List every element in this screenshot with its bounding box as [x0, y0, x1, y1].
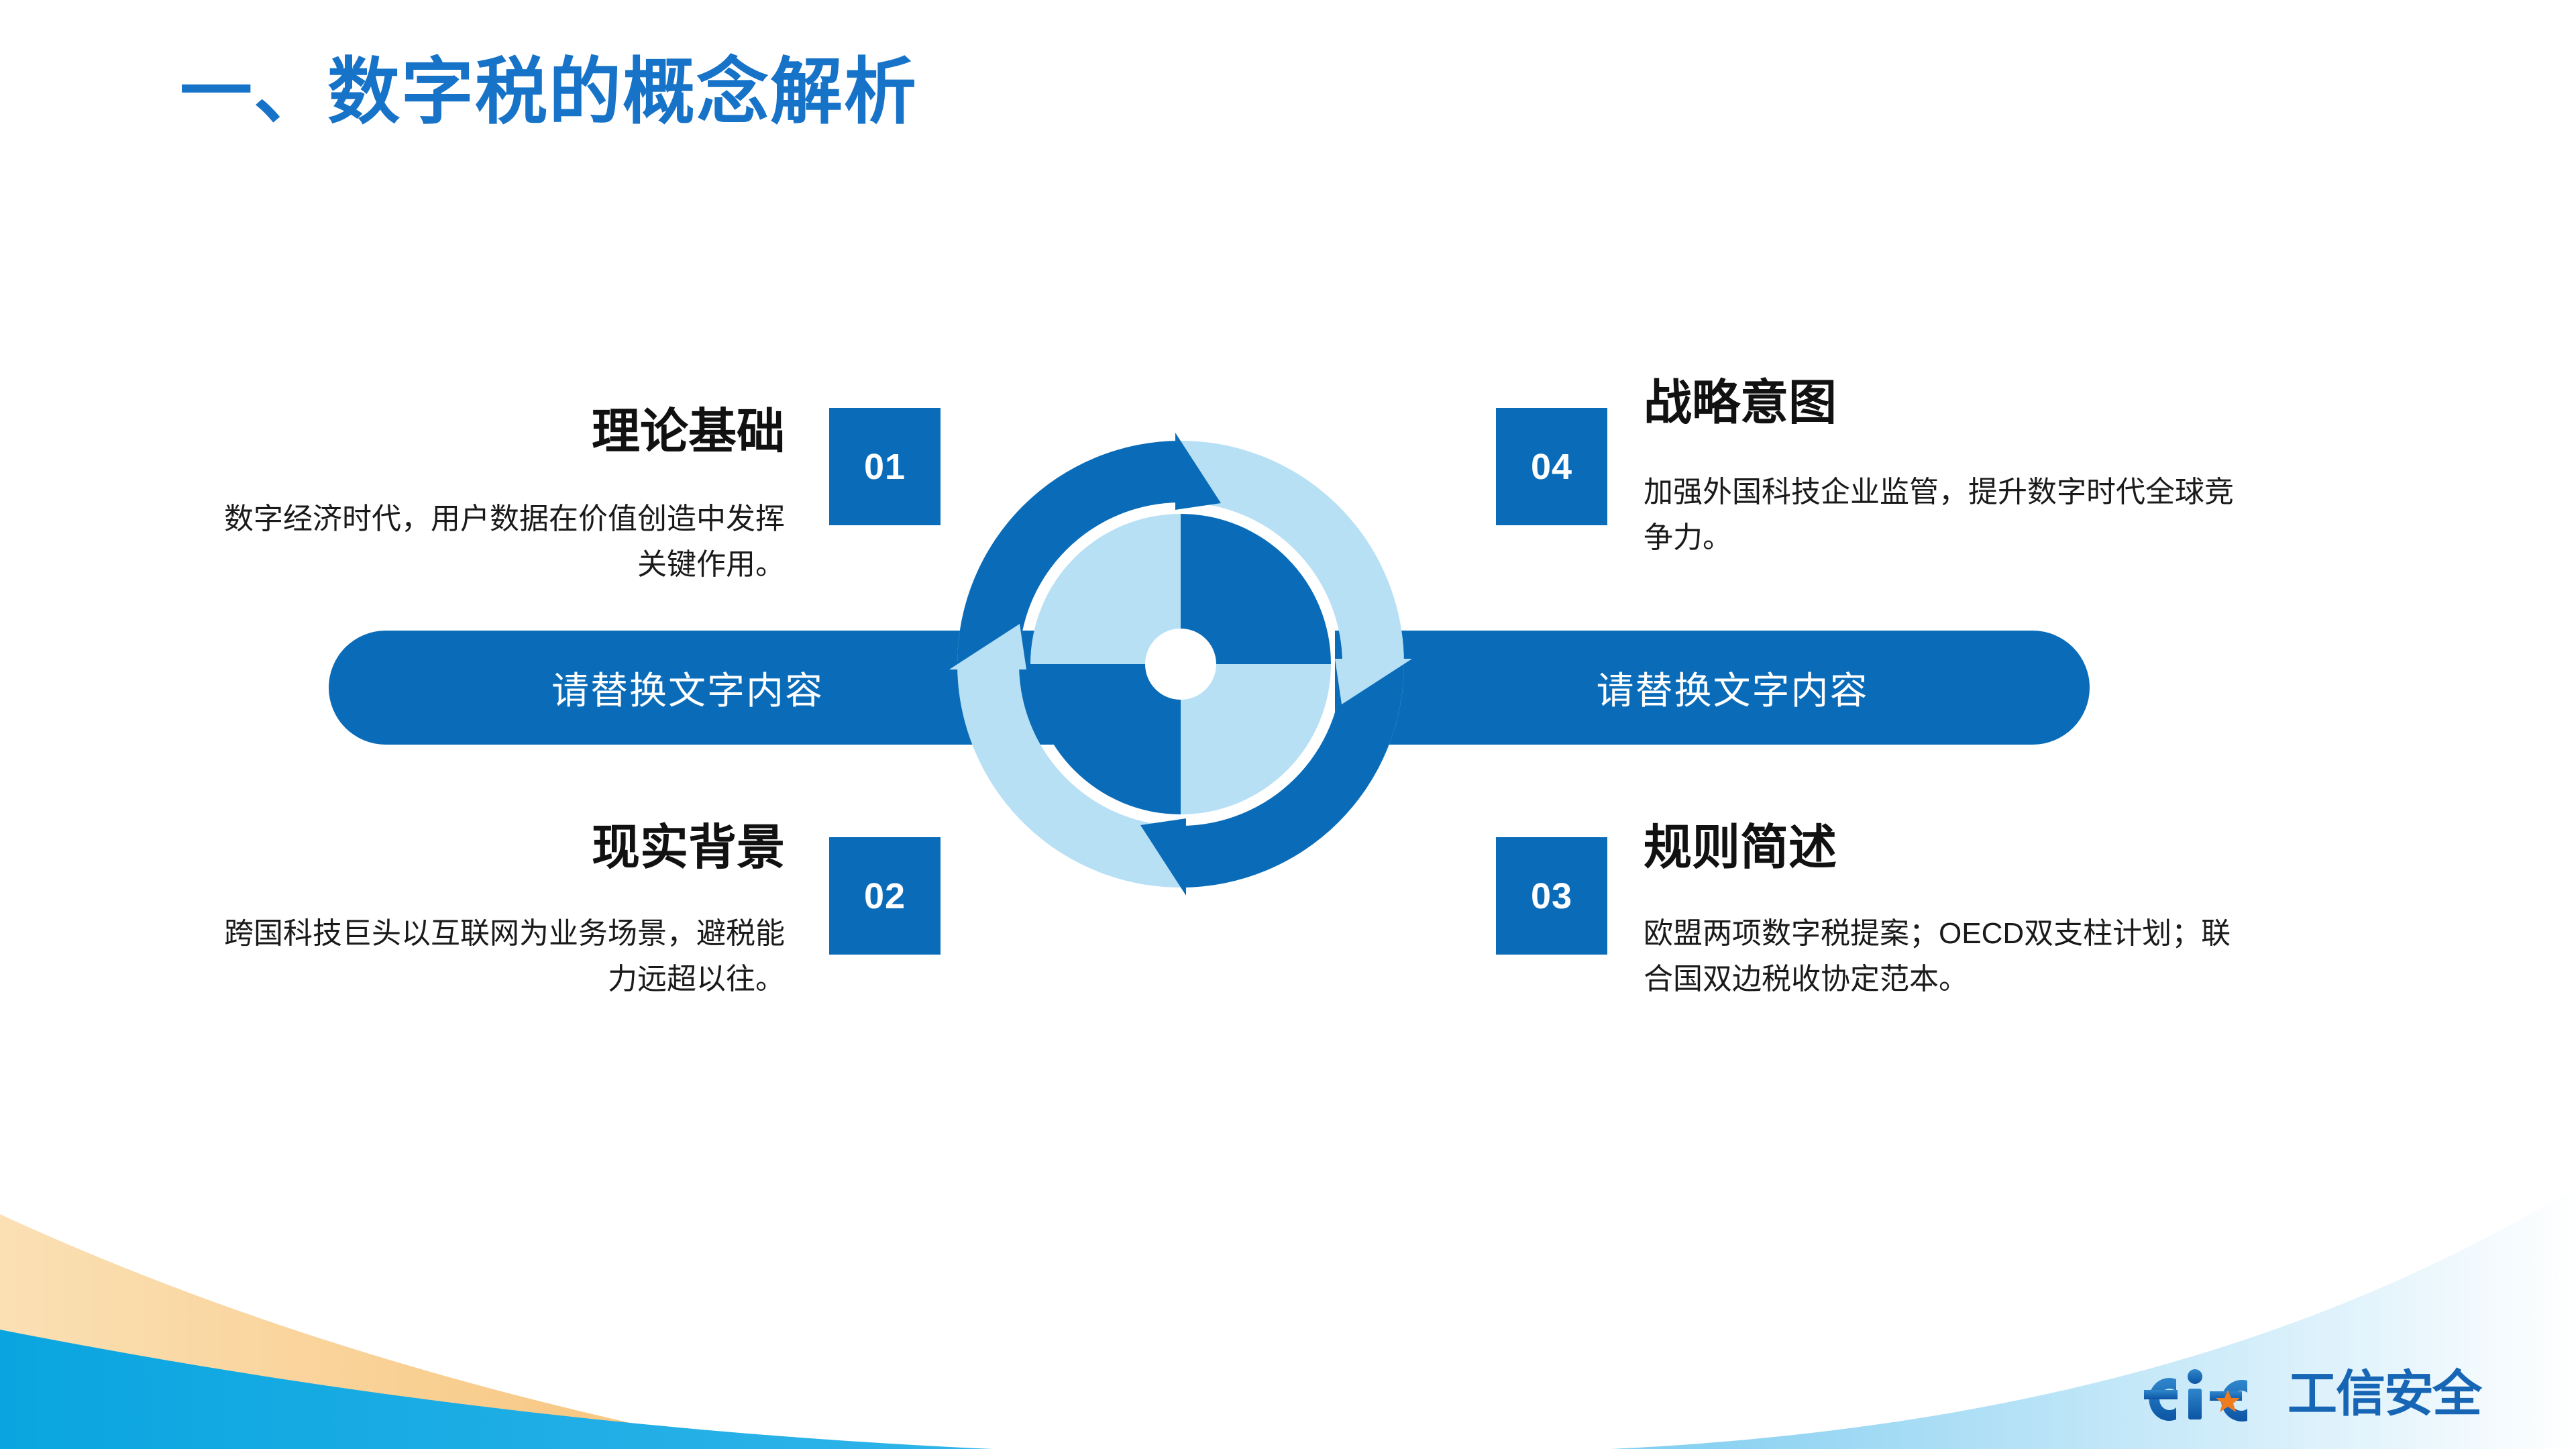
block-body-01: 数字经济时代，用户数据在价值创造中发挥关键作用。 [208, 496, 785, 588]
block-heading-02: 现实背景 [543, 824, 785, 872]
page-number: 4 [1252, 1374, 1332, 1410]
block-heading-03: 规则简述 [1644, 824, 1837, 872]
center-hub-circle [1145, 629, 1216, 700]
slide-root: 一、数字税的概念解析 请替换文字内容 请替换文字内容 [0, 0, 2576, 1449]
right-banner-label: 请替换文字内容 [1597, 661, 1869, 715]
footer-logo: 工信安全 [2140, 1362, 2481, 1426]
block-number-badge-02: 02 [829, 837, 941, 955]
block-number-badge-03: 03 [1496, 837, 1607, 955]
block-body-03: 欧盟两项数字税提案；OECD双支柱计划；联合国双边税收协定范本。 [1644, 911, 2247, 1002]
block-body-04: 加强外国科技企业监管，提升数字时代全球竞争力。 [1644, 470, 2234, 561]
cic-logo-icon [2140, 1362, 2281, 1426]
block-number-badge-04: 04 [1496, 408, 1607, 525]
logo-wordmark: 工信安全 [2288, 1369, 2481, 1419]
block-heading-01: 理论基础 [543, 408, 785, 456]
wave-orange [0, 1214, 1382, 1449]
cycle-arrow-diagram [926, 396, 1436, 932]
block-heading-04: 战略意图 [1644, 379, 1837, 427]
block-body-02: 跨国科技巨头以互联网为业务场景，避税能力远超以往。 [208, 911, 785, 1002]
block-number-badge-01: 01 [829, 408, 941, 525]
right-banner-bar[interactable]: 请替换文字内容 [1335, 631, 2090, 745]
left-banner-label: 请替换文字内容 [551, 661, 824, 715]
page-title: 一、数字税的概念解析 [180, 52, 918, 132]
